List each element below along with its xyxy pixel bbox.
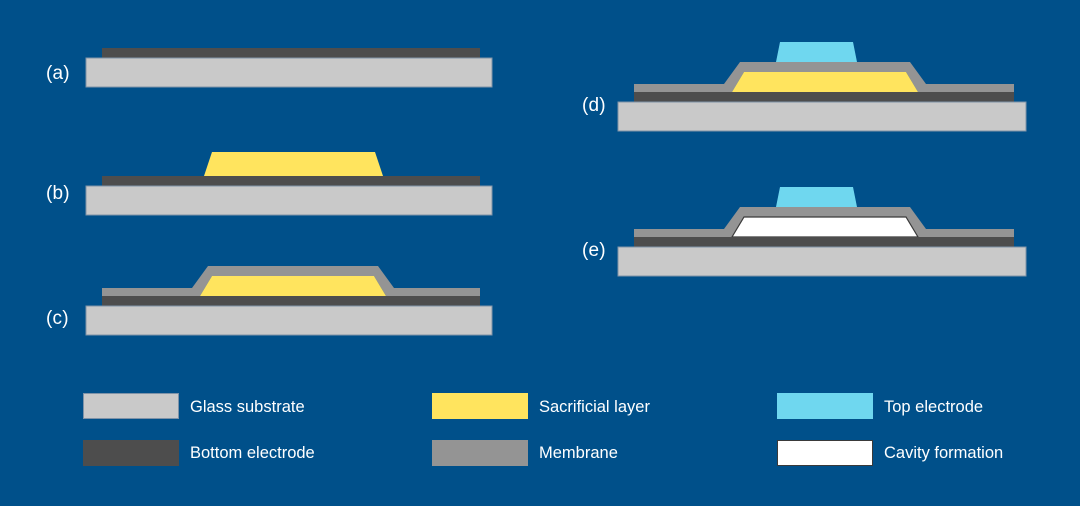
glass-substrate-layer — [618, 247, 1026, 276]
panel-label-b: (b) — [46, 183, 70, 205]
legend-label-sacrificial-layer: Sacrificial layer — [539, 398, 650, 417]
top-electrode-layer — [776, 42, 857, 62]
panel-label-c: (c) — [46, 308, 69, 330]
bottom-electrode-layer — [634, 92, 1014, 102]
bottom-electrode-swatch — [83, 440, 179, 466]
legend-label-membrane: Membrane — [539, 444, 618, 463]
legend-label-bottom-electrode: Bottom electrode — [190, 444, 315, 463]
panel-stack-d — [618, 40, 1030, 124]
panel-stack-b — [86, 150, 496, 212]
top-electrode-layer — [776, 187, 857, 207]
sacrificial-layer-swatch — [432, 393, 528, 419]
glass-substrate-swatch — [83, 393, 179, 419]
legend-label-top-electrode: Top electrode — [884, 398, 983, 417]
panel-label-e: (e) — [582, 240, 606, 262]
cavity-formation-layer — [732, 217, 918, 237]
panel-stack-e — [618, 185, 1030, 269]
panel-stack-a — [86, 48, 496, 94]
glass-substrate-layer — [618, 102, 1026, 131]
legend-label-cavity-formation: Cavity formation — [884, 444, 1003, 463]
membrane-swatch — [432, 440, 528, 466]
bottom-electrode-layer — [102, 176, 480, 186]
glass-substrate-layer — [86, 186, 492, 215]
bottom-electrode-layer — [634, 237, 1014, 247]
top-electrode-swatch — [777, 393, 873, 419]
panel-label-a: (a) — [46, 63, 70, 85]
sacrificial-layer — [200, 276, 386, 296]
cavity-formation-swatch — [777, 440, 873, 466]
sacrificial-layer — [204, 152, 383, 176]
glass-substrate-layer — [86, 306, 492, 335]
sacrificial-layer — [732, 72, 918, 92]
bottom-electrode-layer — [102, 48, 480, 58]
process-flow-diagram: (a) (b) (c) (d) (e) Glass substrat — [0, 0, 1080, 506]
bottom-electrode-layer — [102, 296, 480, 306]
legend-label-glass-substrate: Glass substrate — [190, 398, 305, 417]
glass-substrate-layer — [86, 58, 492, 87]
panel-stack-c — [86, 266, 496, 336]
panel-label-d: (d) — [582, 95, 606, 117]
